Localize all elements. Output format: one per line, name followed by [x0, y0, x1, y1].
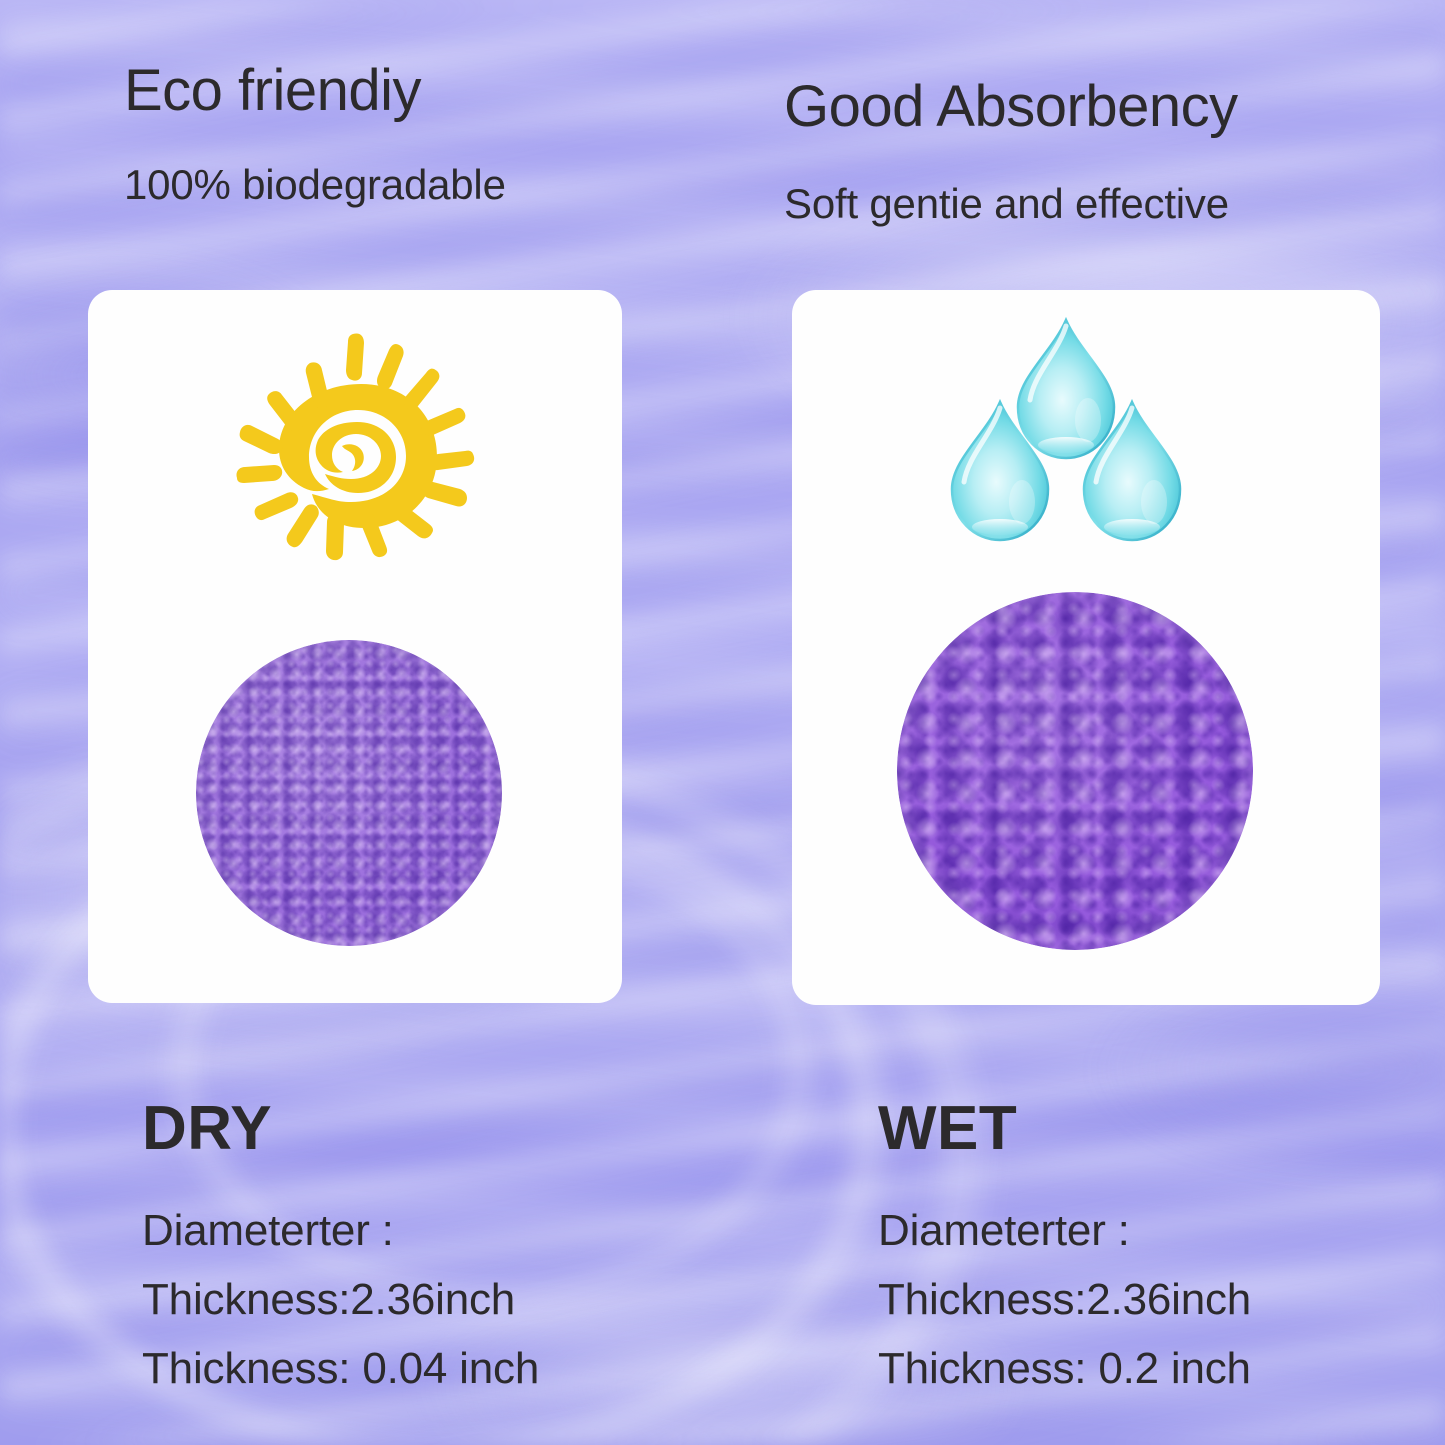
wet-subheading: Soft gentie and effective: [784, 183, 1229, 225]
sun-spiral-icon: [224, 322, 486, 584]
dry-subheading: 100% biodegradable: [124, 164, 506, 206]
drop-top: [1018, 320, 1114, 458]
dry-spec-line-2: Thickness:2.36inch: [142, 1278, 515, 1322]
wet-spec-line-1: Diameterter :: [878, 1209, 1130, 1253]
wet-spec-line-3: Thickness: 0.2 inch: [878, 1347, 1251, 1391]
wet-spec-title: WET: [878, 1098, 1017, 1160]
product-infographic: Eco friendiy 100% biodegradable: [0, 0, 1445, 1445]
dry-heading: Eco friendiy: [124, 62, 421, 120]
dry-spec-line-3: Thickness: 0.04 inch: [142, 1347, 539, 1391]
dry-sponge: [196, 640, 502, 946]
dry-spec-line-1: Diameterter :: [142, 1209, 394, 1253]
wet-heading: Good Absorbency: [784, 78, 1238, 136]
wet-spec-line-2: Thickness:2.36inch: [878, 1278, 1251, 1322]
wet-sponge-rim: [897, 592, 1253, 950]
dry-sponge-rim: [196, 640, 502, 946]
water-drops-icon: [948, 312, 1184, 552]
dry-spec-title: DRY: [142, 1098, 272, 1160]
wet-sponge: [897, 592, 1253, 950]
